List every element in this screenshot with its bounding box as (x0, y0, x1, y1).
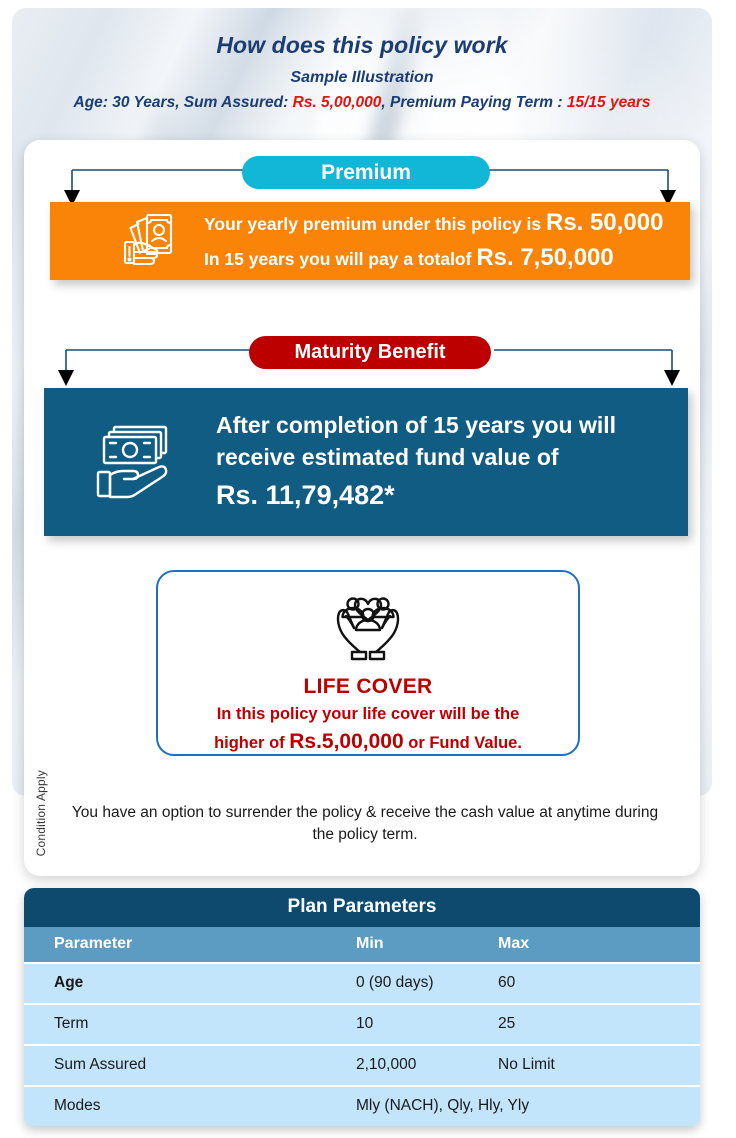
params-term: 15/15 years (567, 94, 651, 111)
header-block: How does this policy work Sample Illustr… (12, 32, 712, 112)
maturity-band: After completion of 15 years you will re… (44, 388, 688, 536)
premium-line1-prefix: Your yearly premium under this policy is (204, 214, 546, 234)
surrender-note: You have an option to surrender the poli… (70, 802, 660, 847)
premium-yearly-amount: Rs. 50,000 (546, 209, 663, 236)
cell-parameter: Modes (24, 1097, 356, 1115)
page-title: How does this policy work (12, 32, 712, 59)
cell-parameter: Term (24, 1015, 356, 1033)
maturity-pill-label: Maturity Benefit (294, 341, 445, 364)
premium-text-block: Your yearly premium under this policy is… (204, 206, 663, 276)
cell-max: 60 (498, 974, 700, 992)
life-cover-line2-prefix: higher of (214, 734, 289, 752)
table-row: Modes Mly (NACH), Qly, Hly, Yly (24, 1085, 700, 1126)
life-cover-line-1: In this policy your life cover will be t… (158, 705, 578, 724)
premium-line-1: Your yearly premium under this policy is… (204, 206, 663, 241)
cell-min: 2,10,000 (356, 1056, 498, 1074)
column-header-parameter: Parameter (24, 935, 356, 953)
cell-parameter: Sum Assured (24, 1056, 356, 1074)
maturity-fund-value: Rs. 11,79,482* (216, 477, 616, 514)
hand-holding-cash-icon (118, 209, 178, 274)
maturity-text-block: After completion of 15 years you will re… (216, 410, 616, 514)
life-cover-line2-suffix: or Fund Value. (404, 734, 522, 752)
cell-min: Mly (NACH), Qly, Hly, Yly (356, 1097, 700, 1115)
table-row: Sum Assured 2,10,000 No Limit (24, 1044, 700, 1085)
plan-parameters-table: Plan Parameters Parameter Min Max Age 0 … (24, 888, 700, 1126)
column-header-min: Min (356, 935, 498, 953)
page-subtitle: Sample Illustration (12, 69, 712, 87)
premium-total-amount: Rs. 7,50,000 (476, 244, 613, 271)
premium-section-pill: Premium (242, 156, 490, 189)
cell-min: 10 (356, 1015, 498, 1033)
maturity-line-2: receive estimated fund value of (216, 442, 616, 474)
maturity-section-pill: Maturity Benefit (249, 336, 491, 369)
condition-apply-note: Condition Apply (34, 770, 48, 856)
table-row: Age 0 (90 days) 60 (24, 962, 700, 1003)
premium-line2-prefix: In 15 years you will pay a totalof (204, 249, 476, 269)
hand-offering-banknotes-icon (92, 417, 178, 508)
cell-min: 0 (90 days) (356, 974, 498, 992)
premium-line-2: In 15 years you will pay a totalof Rs. 7… (204, 241, 663, 276)
life-cover-amount: Rs.5,00,000 (289, 730, 403, 753)
table-header-row: Parameter Min Max (24, 927, 700, 962)
illustration-params: Age: 30 Years, Sum Assured: Rs. 5,00,000… (12, 94, 712, 112)
table-row: Term 10 25 (24, 1003, 700, 1044)
column-header-max: Max (498, 935, 700, 953)
cell-max: No Limit (498, 1056, 700, 1074)
params-sum-assured: Rs. 5,00,000 (293, 94, 382, 111)
life-cover-title: LIFE COVER (158, 675, 578, 699)
premium-pill-label: Premium (321, 161, 411, 185)
premium-band: Your yearly premium under this policy is… (50, 202, 690, 280)
plan-parameters-title: Plan Parameters (24, 888, 700, 927)
life-cover-line-2: higher of Rs.5,00,000 or Fund Value. (158, 730, 578, 754)
family-in-hands-heart-icon (326, 655, 410, 672)
maturity-line-1: After completion of 15 years you will (216, 410, 616, 442)
life-cover-box: LIFE COVER In this policy your life cove… (156, 570, 580, 756)
params-prefix: Age: 30 Years, Sum Assured: (74, 94, 293, 111)
params-middle: , Premium Paying Term : (381, 94, 566, 111)
infographic-page: How does this policy work Sample Illustr… (0, 0, 736, 1138)
cell-max: 25 (498, 1015, 700, 1033)
cell-parameter: Age (24, 974, 356, 992)
